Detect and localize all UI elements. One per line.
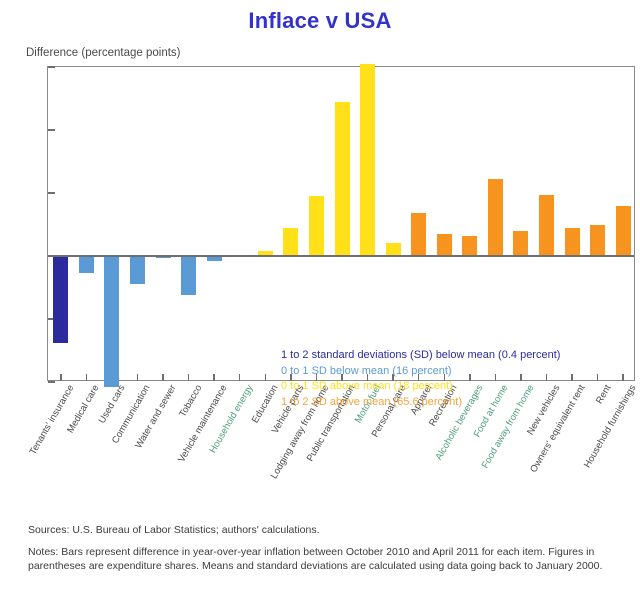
x-tick-mark [60, 374, 62, 381]
bar [79, 256, 94, 273]
x-tick-mark [213, 374, 215, 381]
x-tick-label: Household furnishings [582, 383, 639, 470]
y-tick-mark [48, 192, 55, 194]
zero-baseline [48, 255, 634, 257]
bar [104, 256, 119, 387]
methodology-note: Notes: Bars represent difference in year… [28, 545, 628, 573]
bar [437, 234, 452, 256]
page-title: Inflace v USA [0, 8, 640, 34]
legend: 1 to 2 standard deviations (SD) below me… [281, 348, 560, 410]
x-tick-mark [571, 374, 573, 381]
plot-area: 6420-2-4 1 to 2 standard deviations (SD)… [47, 66, 635, 381]
bar [130, 256, 145, 284]
y-tick-mark [48, 66, 55, 68]
bar [181, 256, 196, 295]
bar [513, 231, 528, 256]
legend-item: 1 to 2 SD above mean (65.6 percent) [281, 395, 560, 411]
x-tick-label: Tobacco [177, 383, 204, 419]
x-tick-mark [188, 374, 190, 381]
x-tick-mark [137, 374, 139, 381]
x-tick-mark [597, 374, 599, 381]
bar [488, 179, 503, 256]
bar [360, 64, 375, 256]
y-tick-mark [48, 129, 55, 131]
x-tick-label: Tenants' insurance [27, 383, 76, 457]
x-tick-mark [86, 374, 88, 381]
bar [616, 206, 631, 256]
sources-note: Sources: U.S. Bureau of Labor Statistics… [28, 524, 628, 536]
bar [590, 225, 605, 257]
footnotes: Sources: U.S. Bureau of Labor Statistics… [28, 524, 628, 573]
bar [462, 236, 477, 256]
legend-item: 1 to 2 standard deviations (SD) below me… [281, 348, 560, 364]
x-tick-mark [622, 374, 624, 381]
bar [283, 228, 298, 256]
x-tick-mark [265, 374, 267, 381]
bar [309, 196, 324, 256]
x-tick-mark [239, 374, 241, 381]
bar [53, 256, 68, 343]
bar [539, 195, 554, 256]
y-axis-label: Difference (percentage points) [26, 47, 181, 59]
x-tick-label: Rent [594, 383, 614, 406]
bar [411, 213, 426, 256]
bar [565, 228, 580, 256]
x-tick-mark [162, 374, 164, 381]
legend-item: 0 to 1 SD below mean (16 percent) [281, 364, 560, 380]
bar [335, 102, 350, 256]
legend-item: 0 to 1 SD above mean (18 percent) [281, 379, 560, 395]
